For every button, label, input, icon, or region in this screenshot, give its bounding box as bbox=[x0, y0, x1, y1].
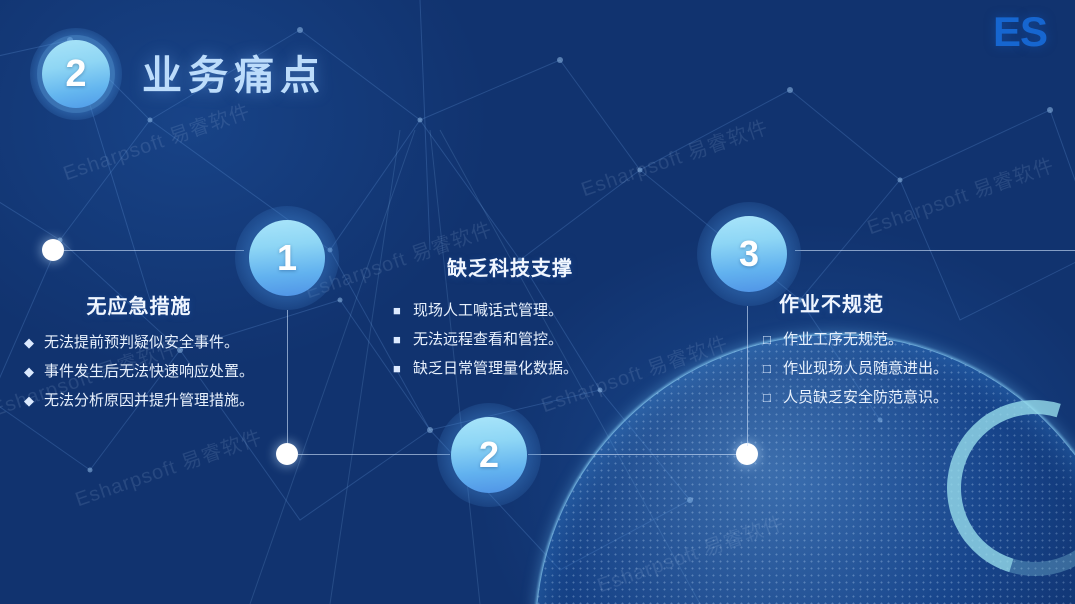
connector-line-step1-down bbox=[287, 310, 288, 454]
content-column-nonstandard-operations: 作业不规范 □ 作业工序无规范。 □ 作业现场人员随意进出。 □ 人员缺乏安全防… bbox=[745, 288, 1030, 413]
page-title: 业务痛点 bbox=[142, 43, 326, 101]
connector-line-left-top bbox=[64, 250, 244, 251]
section-number-badge: 2 bbox=[30, 28, 122, 120]
list-item: ◆ 无法提前预判疑似安全事件。 bbox=[24, 329, 264, 356]
watermark: Esharpsoft 易睿软件 bbox=[593, 507, 788, 598]
diamond-bullet-icon: ◆ bbox=[24, 358, 44, 385]
connector-line-mid-left bbox=[298, 454, 450, 455]
connector-dot-left bbox=[42, 239, 64, 261]
column-2-bullet-list: ■ 现场人工喊话式管理。 ■ 无法远程查看和管控。 ■ 缺乏日常管理量化数据。 bbox=[375, 297, 645, 382]
list-item-text: 作业现场人员随意进出。 bbox=[783, 355, 1030, 382]
slide-header: 2 业务痛点 ES bbox=[0, 0, 1075, 130]
list-item-text: 现场人工喊话式管理。 bbox=[413, 297, 645, 324]
step-number-1: 1 bbox=[277, 240, 297, 276]
column-3-title: 作业不规范 bbox=[779, 288, 1030, 317]
list-item: □ 作业工序无规范。 bbox=[763, 326, 1030, 353]
list-item: ■ 无法远程查看和管控。 bbox=[393, 326, 645, 353]
step-circle-1-inner: 1 bbox=[249, 220, 325, 296]
square-bullet-icon: ■ bbox=[393, 326, 413, 353]
square-bullet-icon: ■ bbox=[393, 297, 413, 324]
step-circle-3-inner: 3 bbox=[711, 216, 787, 292]
column-3-bullet-list: □ 作业工序无规范。 □ 作业现场人员随意进出。 □ 人员缺乏安全防范意识。 bbox=[745, 326, 1030, 411]
list-item-text: 无法分析原因并提升管理措施。 bbox=[44, 387, 264, 414]
list-item-text: 缺乏日常管理量化数据。 bbox=[413, 355, 645, 382]
list-item: ■ 现场人工喊话式管理。 bbox=[393, 297, 645, 324]
connector-line-mid-right bbox=[528, 454, 748, 455]
list-item-text: 无法提前预判疑似安全事件。 bbox=[44, 329, 264, 356]
list-item-text: 无法远程查看和管控。 bbox=[413, 326, 645, 353]
content-column-lack-of-technology: 缺乏科技支撑 ■ 现场人工喊话式管理。 ■ 无法远程查看和管控。 ■ 缺乏日常管… bbox=[375, 252, 645, 384]
content-column-no-emergency-measures: 无应急措施 ◆ 无法提前预判疑似安全事件。 ◆ 事件发生后无法快速响应处置。 ◆… bbox=[14, 290, 264, 416]
section-number-badge-inner: 2 bbox=[42, 40, 110, 108]
step-circle-2[interactable]: 2 bbox=[437, 403, 541, 507]
watermark: Esharpsoft 易睿软件 bbox=[71, 421, 266, 512]
diamond-bullet-icon: ◆ bbox=[24, 329, 44, 356]
section-number-text: 2 bbox=[65, 55, 86, 93]
connector-line-right-top bbox=[795, 250, 1075, 251]
step-number-3: 3 bbox=[739, 236, 759, 272]
column-2-title: 缺乏科技支撑 bbox=[375, 252, 645, 281]
list-item: □ 人员缺乏安全防范意识。 bbox=[763, 384, 1030, 411]
list-item: ◆ 事件发生后无法快速响应处置。 bbox=[24, 358, 264, 385]
hollow-square-bullet-icon: □ bbox=[763, 355, 783, 382]
square-bullet-icon: ■ bbox=[393, 355, 413, 382]
column-1-bullet-list: ◆ 无法提前预判疑似安全事件。 ◆ 事件发生后无法快速响应处置。 ◆ 无法分析原… bbox=[14, 329, 264, 414]
list-item-text: 人员缺乏安全防范意识。 bbox=[783, 384, 1030, 411]
list-item: □ 作业现场人员随意进出。 bbox=[763, 355, 1030, 382]
slide-canvas: Esharpsoft 易睿软件 Esharpsoft 易睿软件 Esharpso… bbox=[0, 0, 1075, 604]
diamond-bullet-icon: ◆ bbox=[24, 387, 44, 414]
hollow-square-bullet-icon: □ bbox=[763, 384, 783, 411]
watermark: Esharpsoft 易睿软件 bbox=[863, 149, 1058, 240]
connector-dot-step1-bottom bbox=[276, 443, 298, 465]
es-logo: ES bbox=[993, 8, 1047, 56]
list-item: ■ 缺乏日常管理量化数据。 bbox=[393, 355, 645, 382]
list-item: ◆ 无法分析原因并提升管理措施。 bbox=[24, 387, 264, 414]
connector-dot-step3-bottom bbox=[736, 443, 758, 465]
list-item-text: 事件发生后无法快速响应处置。 bbox=[44, 358, 264, 385]
column-1-title: 无应急措施 bbox=[14, 290, 264, 319]
step-circle-2-inner: 2 bbox=[451, 417, 527, 493]
hollow-square-bullet-icon: □ bbox=[763, 326, 783, 353]
list-item-text: 作业工序无规范。 bbox=[783, 326, 1030, 353]
step-number-2: 2 bbox=[479, 437, 499, 473]
